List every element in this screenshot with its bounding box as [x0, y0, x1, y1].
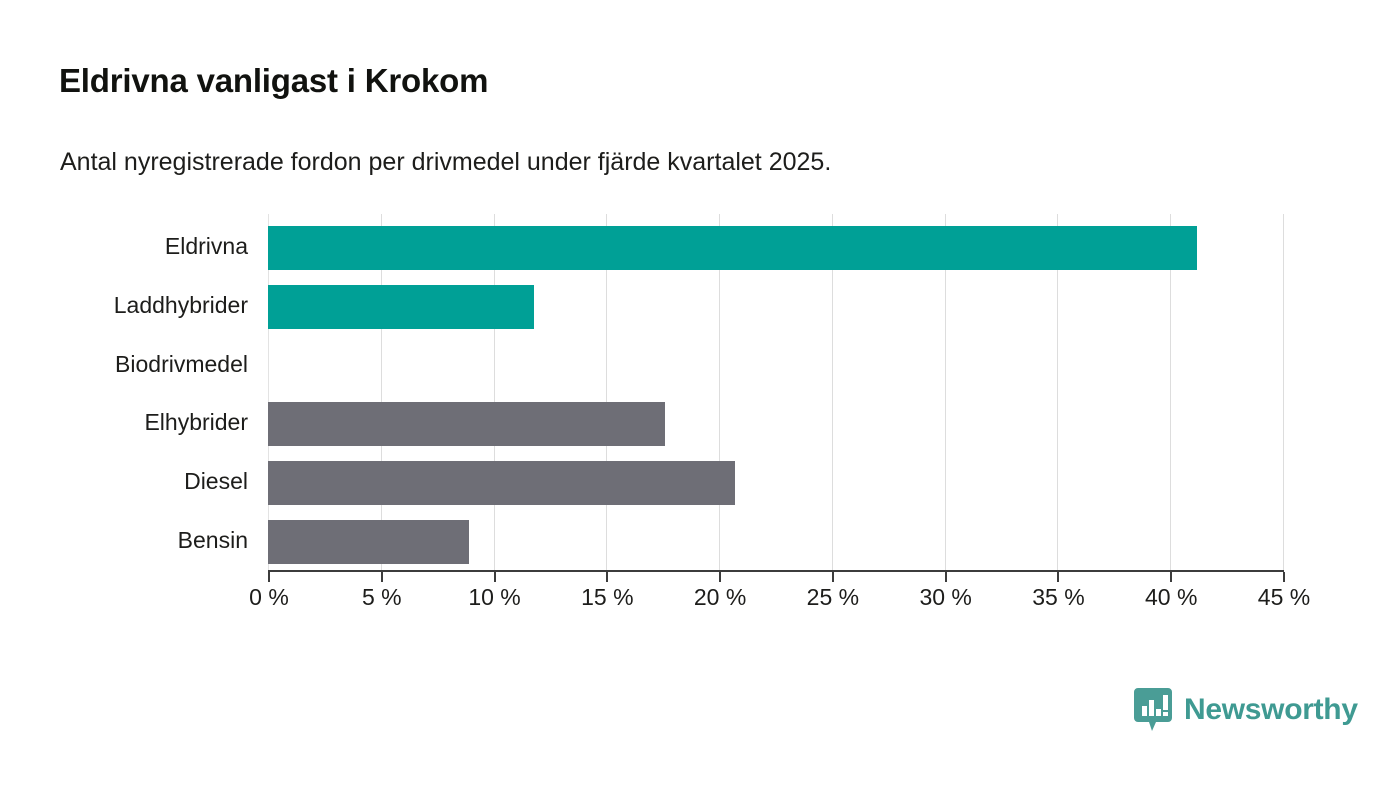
x-axis-tick — [945, 572, 947, 582]
chart-page: Eldrivna vanligast i Krokom Antal nyregi… — [0, 0, 1400, 793]
gridline — [1283, 214, 1284, 570]
y-axis-label-elhybrider: Elhybrider — [0, 409, 248, 436]
newsworthy-logo: Newsworthy — [1133, 687, 1358, 733]
x-axis-tick-label: 30 % — [919, 584, 971, 611]
x-axis-tick — [1057, 572, 1059, 582]
x-axis-tick-label: 5 % — [362, 584, 402, 611]
x-axis-tick — [381, 572, 383, 582]
x-axis-tick — [606, 572, 608, 582]
x-axis-tick — [719, 572, 721, 582]
newsworthy-bar-chart-speech-bubble-icon — [1133, 687, 1173, 733]
bar-laddhybrider — [268, 285, 534, 329]
x-axis-tick — [1283, 572, 1285, 582]
y-axis-label-diesel: Diesel — [0, 468, 248, 495]
x-axis-line — [268, 570, 1284, 572]
bar-elhybrider — [268, 402, 665, 446]
y-axis-label-eldrivna: Eldrivna — [0, 233, 248, 260]
x-axis-tick-label: 20 % — [694, 584, 746, 611]
x-axis-tick — [1170, 572, 1172, 582]
bar-eldrivna — [268, 226, 1197, 270]
x-axis-tick-label: 25 % — [807, 584, 859, 611]
x-axis-tick — [494, 572, 496, 582]
bar-bensin — [268, 520, 469, 564]
x-axis-tick-label: 15 % — [581, 584, 633, 611]
newsworthy-wordmark: Newsworthy — [1184, 695, 1358, 725]
x-axis-tick-label: 35 % — [1032, 584, 1084, 611]
y-axis-label-laddhybrider: Laddhybrider — [0, 292, 248, 319]
y-axis-label-bensin: Bensin — [0, 527, 248, 554]
chart-plot: 0 %5 %10 %15 %20 %25 %30 %35 %40 %45 %El… — [0, 0, 1400, 793]
x-axis-tick — [268, 572, 270, 582]
bar-diesel — [268, 461, 735, 505]
x-axis-tick — [832, 572, 834, 582]
x-axis-tick-label: 10 % — [468, 584, 520, 611]
x-axis-tick-label: 45 % — [1258, 584, 1310, 611]
x-axis-tick-label: 40 % — [1145, 584, 1197, 611]
x-axis-tick-label: 0 % — [249, 584, 289, 611]
y-axis-label-biodrivmedel: Biodrivmedel — [0, 351, 248, 378]
